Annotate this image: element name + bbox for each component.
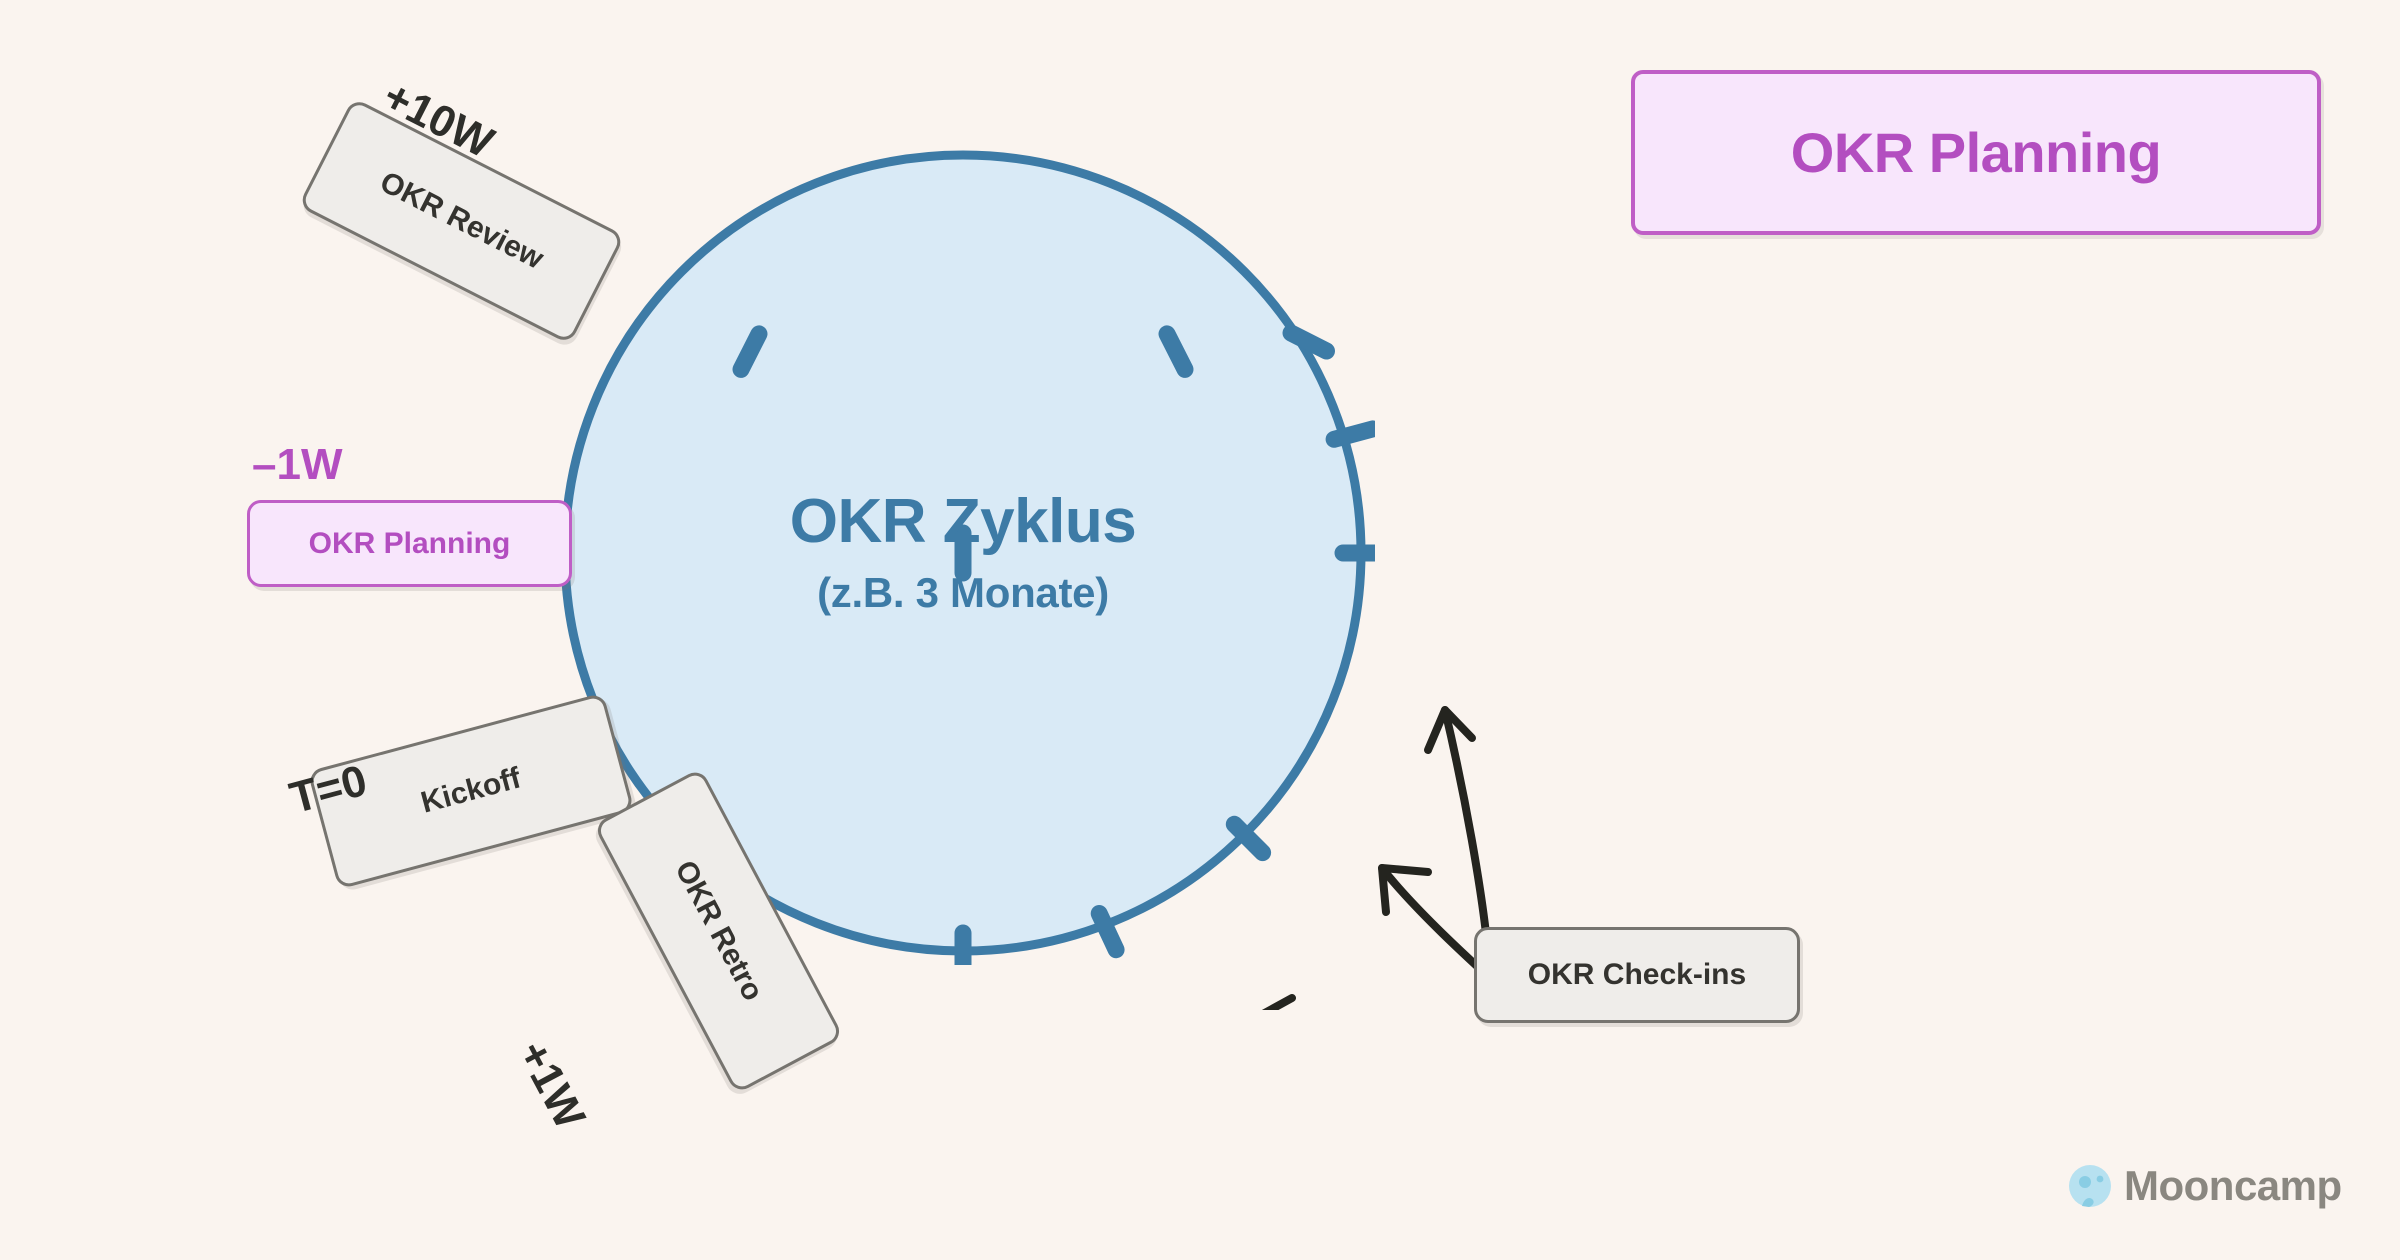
page-title: OKR Planning <box>1791 120 2161 185</box>
moon-icon <box>2068 1164 2112 1208</box>
diagram-canvas: OKR Zyklus (z.B. 3 Monate) OKR Review +1… <box>0 0 2400 1260</box>
okr-check-ins-card[interactable]: OKR Check-ins <box>1474 927 1800 1023</box>
brand-name: Mooncamp <box>2124 1162 2342 1210</box>
tick-mark <box>1234 824 1262 852</box>
time-label-plus-1w: +1W <box>507 1033 594 1137</box>
step-card-label: OKR Review <box>374 165 548 276</box>
arrow-head <box>1428 710 1472 750</box>
step-card-okr-planning[interactable]: OKR Planning <box>247 500 572 587</box>
page-title-card: OKR Planning <box>1631 70 2321 235</box>
arrow-head <box>1382 868 1428 912</box>
step-card-label: OKR Planning <box>309 527 511 561</box>
tick-mark <box>1334 429 1373 439</box>
brand-logo: Mooncamp <box>2068 1162 2342 1210</box>
step-card-label: Kickoff <box>417 761 524 820</box>
arrow-shaft <box>1445 710 1488 952</box>
time-label-minus-1w: –1W <box>252 440 342 490</box>
step-card-label: OKR Retro <box>667 855 769 1006</box>
arrow-head <box>1252 998 1296 1010</box>
check-ins-label: OKR Check-ins <box>1528 958 1746 992</box>
